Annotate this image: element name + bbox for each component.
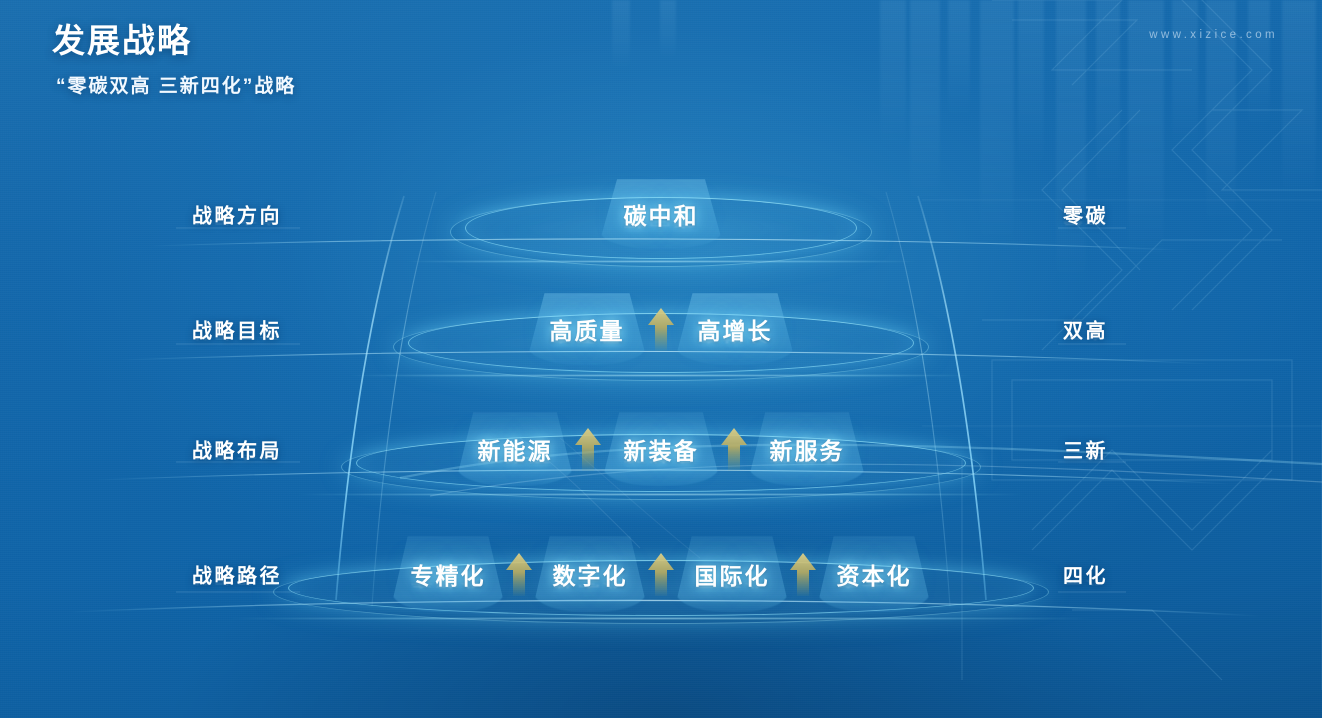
funnel-item-label: 高增长高增长	[698, 312, 773, 346]
row-right-label-reflection: 四化	[1063, 573, 1108, 589]
up-arrow-icon	[504, 550, 534, 598]
funnel-item[interactable]: 高质量高质量	[528, 293, 646, 365]
row-left-label-reflection: 战略方向	[192, 213, 282, 229]
row-items: 高质量高质量 高增长高增长	[528, 293, 794, 365]
funnel-item-label: 国际化国际化	[695, 557, 770, 591]
strategy-funnel-diagram: 战略方向战略方向零碳零碳碳中和碳中和战略目标战略目标双高双高高质量高质量 高增长…	[0, 0, 1322, 718]
row-left-label: 战略布局战略布局	[192, 435, 282, 464]
up-arrow-icon	[573, 425, 603, 473]
row-left-label-reflection: 战略目标	[192, 328, 282, 344]
row-sweep-line	[228, 618, 1094, 619]
up-arrow-icon	[646, 550, 676, 598]
row-left-label: 战略目标战略目标	[192, 315, 282, 344]
row-right-label: 三新三新	[1063, 435, 1108, 464]
funnel-item[interactable]: 新能源新能源	[457, 412, 573, 486]
funnel-item-label: 资本化资本化	[837, 557, 912, 591]
funnel-item-label: 高质量高质量	[550, 312, 625, 346]
funnel-item-label-reflection: 数字化	[553, 575, 628, 592]
funnel-item[interactable]: 新装备新装备	[603, 412, 719, 486]
up-arrow-icon	[646, 305, 676, 353]
up-arrow	[504, 550, 534, 598]
watermark: www.xizice.com	[1149, 29, 1278, 41]
funnel-item-label-reflection: 国际化	[695, 575, 770, 592]
row-right-label-reflection: 零碳	[1063, 213, 1108, 229]
funnel-item[interactable]: 数字化数字化	[534, 536, 646, 612]
row-sweep-line	[296, 494, 1026, 495]
funnel-item-label-reflection: 专精化	[411, 575, 486, 592]
row-left-label-reflection: 战略路径	[192, 573, 282, 589]
row-right-label: 双高双高	[1063, 315, 1108, 344]
funnel-item-label-reflection: 资本化	[837, 575, 912, 592]
funnel-item-label-reflection: 高增长	[698, 330, 773, 347]
up-arrow	[573, 425, 603, 473]
row-left-label: 战略方向战略方向	[192, 200, 282, 229]
funnel-item-label-reflection: 高质量	[550, 330, 625, 347]
slide-canvas: 发展战略 “零碳双高 三新四化”战略 www.xizice.com	[0, 0, 1322, 718]
funnel-item-label: 新装备新装备	[624, 432, 699, 466]
funnel-item[interactable]: 专精化专精化	[392, 536, 504, 612]
row-items: 专精化专精化 数字化数字化 国际化国际化	[392, 536, 930, 612]
up-arrow-icon	[788, 550, 818, 598]
funnel-item-label-reflection: 新服务	[770, 450, 845, 467]
funnel-item-label-reflection: 碳中和	[624, 215, 699, 232]
funnel-item[interactable]: 新服务新服务	[749, 412, 865, 486]
up-arrow	[788, 550, 818, 598]
funnel-item-label: 新能源新能源	[478, 432, 553, 466]
header: 发展战略 “零碳双高 三新四化”战略	[52, 22, 296, 98]
row-sweep-line	[348, 375, 974, 376]
funnel-item-label: 专精化专精化	[411, 557, 486, 591]
row-left-label: 战略路径战略路径	[192, 560, 282, 589]
funnel-item-label: 碳中和碳中和	[624, 197, 699, 231]
row-right-label-reflection: 双高	[1063, 328, 1108, 344]
row-right-label: 零碳零碳	[1063, 200, 1108, 229]
row-right-label-reflection: 三新	[1063, 448, 1108, 464]
page-title: 发展战略	[52, 22, 296, 60]
up-arrow-icon	[719, 425, 749, 473]
up-arrow	[719, 425, 749, 473]
up-arrow	[646, 305, 676, 353]
row-items: 碳中和碳中和	[600, 179, 722, 249]
up-arrow	[646, 550, 676, 598]
funnel-item-label-reflection: 新能源	[478, 450, 553, 467]
funnel-item[interactable]: 碳中和碳中和	[600, 179, 722, 249]
funnel-item-label: 新服务新服务	[770, 432, 845, 466]
row-items: 新能源新能源 新装备新装备 新服务新服务	[457, 412, 865, 486]
funnel-item-label: 数字化数字化	[553, 557, 628, 591]
row-sweep-line	[405, 261, 917, 262]
funnel-item[interactable]: 资本化资本化	[818, 536, 930, 612]
funnel-item[interactable]: 高增长高增长	[676, 293, 794, 365]
funnel-item-label-reflection: 新装备	[624, 450, 699, 467]
funnel-item[interactable]: 国际化国际化	[676, 536, 788, 612]
row-left-label-reflection: 战略布局	[192, 448, 282, 464]
page-subtitle: “零碳双高 三新四化”战略	[56, 71, 296, 98]
row-right-label: 四化四化	[1063, 560, 1108, 589]
